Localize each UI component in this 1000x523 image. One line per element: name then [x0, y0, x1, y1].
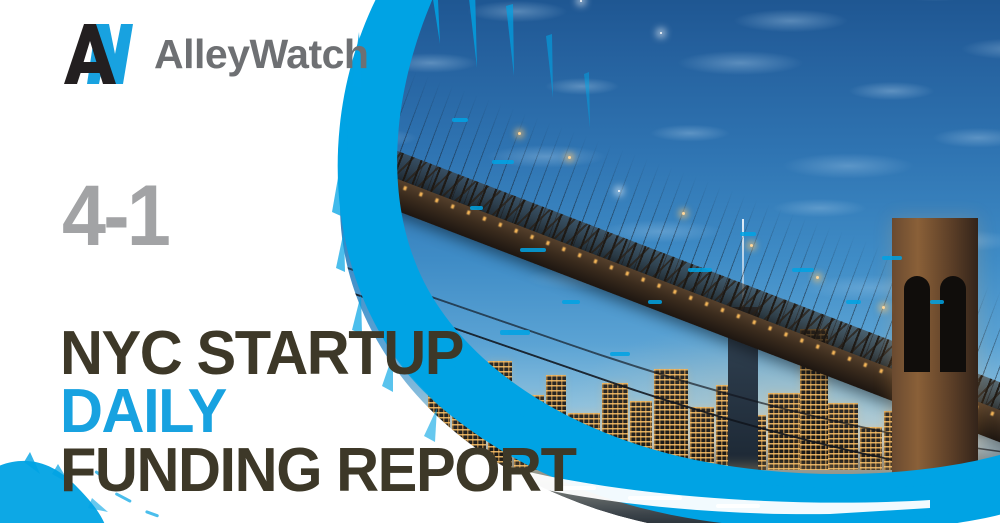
- gothic-arch-icon: [940, 276, 966, 372]
- deck-flare-icon: [618, 190, 620, 192]
- cable-light-icon: [682, 212, 685, 215]
- bridge-tower: [892, 218, 978, 508]
- headline-line-3: FUNDING REPORT: [60, 442, 576, 500]
- cable-light-icon: [660, 32, 662, 34]
- alleywatch-wordmark: AlleyWatch: [154, 34, 368, 75]
- cable-light-icon: [580, 0, 582, 2]
- report-date: 4-1: [62, 173, 168, 259]
- cable-light-icon: [750, 244, 753, 247]
- alleywatch-logo[interactable]: AlleyWatch: [62, 18, 368, 90]
- headline-line-2: DAILY: [60, 383, 576, 441]
- cable-light-icon: [568, 156, 571, 159]
- cable-light-icon: [882, 306, 885, 309]
- cable-light-icon: [518, 132, 521, 135]
- headline-line-1: NYC STARTUP: [60, 325, 576, 383]
- page-title: NYC STARTUP DAILY FUNDING REPORT: [60, 325, 597, 500]
- aw-monogram-icon: [62, 18, 146, 90]
- funding-report-banner: AlleyWatch 4-1 NYC STARTUP DAILY FUNDING…: [0, 0, 1000, 523]
- cable-light-icon: [816, 276, 819, 279]
- gothic-arch-icon: [904, 276, 930, 372]
- bridge-tower-base: [880, 494, 990, 523]
